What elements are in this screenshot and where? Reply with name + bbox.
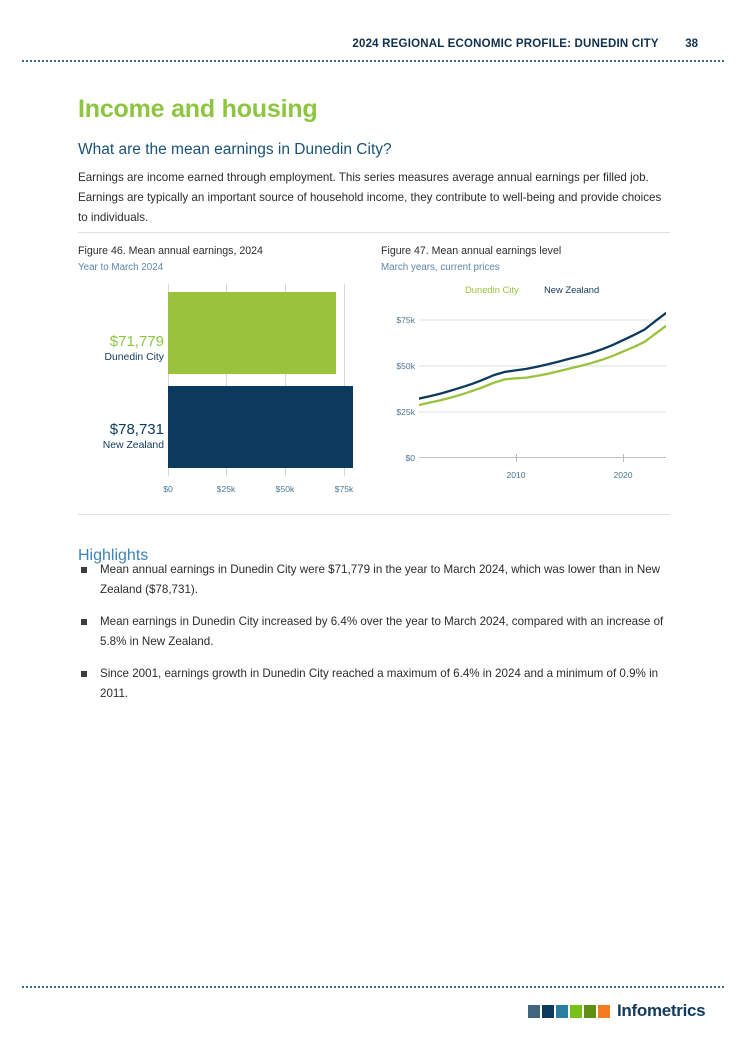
logo-square-4	[584, 1005, 596, 1018]
highlight-text: Mean earnings in Dunedin City increased …	[100, 615, 663, 648]
figure-46-subcaption: Year to March 2024	[78, 261, 374, 274]
x-tick-2010: 2010	[506, 470, 525, 480]
list-item: Since 2001, earnings growth in Dunedin C…	[78, 664, 670, 704]
logo-square-3	[570, 1005, 582, 1018]
header-divider	[22, 60, 724, 62]
infometrics-logo: Infometrics	[528, 1000, 705, 1022]
document-title: 2024 REGIONAL ECONOMIC PROFILE: DUNEDIN …	[352, 38, 658, 50]
figure-47-subcaption: March years, current prices	[381, 261, 670, 274]
bullet-square-icon	[81, 567, 87, 573]
charts-bottom-rule	[78, 514, 670, 515]
bar-label-dunedin-city: $71,779 Dunedin City	[78, 332, 164, 365]
y-tick-25k: $25k	[396, 407, 415, 417]
logo-square-0	[528, 1005, 540, 1018]
x-tick-75k: $75k	[335, 484, 354, 494]
y-tick-50k: $50k	[396, 361, 415, 371]
bullet-square-icon	[81, 671, 87, 677]
y-tick-75k: $75k	[396, 315, 415, 325]
bar-label-new-zealand: $78,731 New Zealand	[78, 420, 164, 453]
x-tick-50k: $50k	[276, 484, 295, 494]
figure-46-plot: $71,779 Dunedin City $78,731 New Zealand…	[78, 284, 374, 499]
page-header: 2024 REGIONAL ECONOMIC PROFILE: DUNEDIN …	[0, 34, 746, 52]
figure-47-y-axis: $75k $50k $25k $0	[381, 306, 415, 458]
figure-46-bars	[168, 284, 368, 476]
section-title: Income and housing	[78, 95, 317, 124]
figure-47-caption: Figure 47. Mean annual earnings level	[381, 244, 670, 259]
highlight-text: Since 2001, earnings growth in Dunedin C…	[100, 667, 658, 700]
logo-squares-icon	[528, 1005, 610, 1018]
bar-name-new-zealand: New Zealand	[78, 439, 164, 453]
bar-new-zealand	[168, 386, 353, 468]
charts-top-rule	[78, 232, 670, 233]
y-tick-0: $0	[405, 453, 415, 463]
highlights-list: Mean annual earnings in Dunedin City wer…	[78, 560, 670, 716]
bullet-square-icon	[81, 619, 87, 625]
legend-item-new-zealand: New Zealand	[544, 284, 599, 295]
figure-46-x-axis: $0 $25k $50k $75k	[168, 480, 368, 498]
page-number: 38	[685, 38, 698, 50]
x-tickmark-2020	[623, 454, 624, 462]
charts-container: Figure 46. Mean annual earnings, 2024 Ye…	[78, 244, 670, 506]
figure-47-x-axis: 2010 2020	[419, 462, 666, 482]
highlight-text: Mean annual earnings in Dunedin City wer…	[100, 563, 660, 596]
x-tick-25k: $25k	[217, 484, 236, 494]
logo-square-1	[542, 1005, 554, 1018]
figure-46-bar-chart: Figure 46. Mean annual earnings, 2024 Ye…	[78, 244, 374, 506]
bar-value-dunedin-city: $71,779	[78, 332, 164, 351]
figure-47-series-svg	[419, 306, 666, 458]
figure-47-plot: Dunedin City New Zealand $75k $50k $25k …	[381, 284, 670, 499]
figure-47-legend: Dunedin City New Zealand	[437, 284, 670, 300]
figure-46-caption: Figure 46. Mean annual earnings, 2024	[78, 244, 374, 259]
figure-46-category-labels: $71,779 Dunedin City $78,731 New Zealand	[78, 284, 164, 476]
list-item: Mean earnings in Dunedin City increased …	[78, 612, 670, 652]
bar-name-dunedin-city: Dunedin City	[78, 351, 164, 365]
footer-divider	[22, 986, 724, 988]
subsection-question: What are the mean earnings in Dunedin Ci…	[78, 141, 392, 159]
bar-value-new-zealand: $78,731	[78, 420, 164, 439]
legend-item-dunedin-city: Dunedin City	[465, 284, 519, 295]
logo-square-5	[598, 1005, 610, 1018]
x-tickmark-2010	[516, 454, 517, 462]
x-tick-2020: 2020	[613, 470, 632, 480]
bar-dunedin-city	[168, 292, 336, 374]
figure-47-line-chart: Figure 47. Mean annual earnings level Ma…	[381, 244, 670, 506]
list-item: Mean annual earnings in Dunedin City wer…	[78, 560, 670, 600]
logo-wordmark: Infometrics	[617, 1001, 705, 1021]
intro-paragraph: Earnings are income earned through emplo…	[78, 168, 670, 228]
x-tick-0: $0	[163, 484, 173, 494]
figure-47-plot-area: $75k $50k $25k $0 2010 2	[381, 306, 670, 476]
logo-square-2	[556, 1005, 568, 1018]
